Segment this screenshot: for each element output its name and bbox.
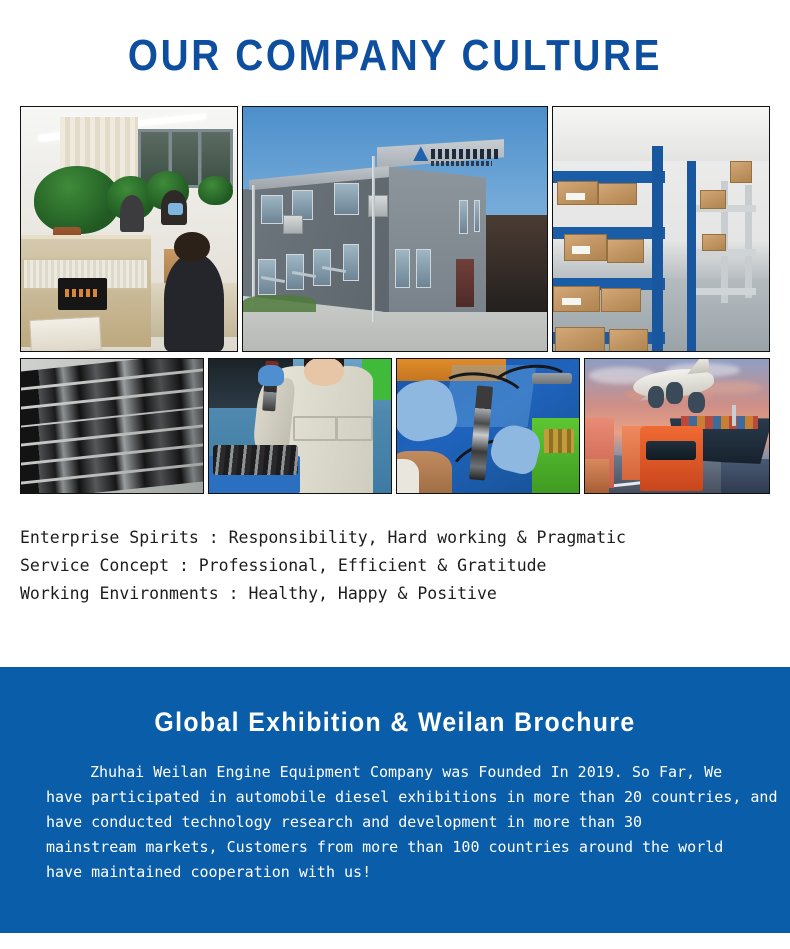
culture-line-2: Service Concept : Professional, Efficien… — [20, 552, 790, 580]
culture-statements: Enterprise Spirits : Responsibility, Har… — [0, 494, 790, 608]
photo-gallery — [0, 106, 790, 494]
office-photo[interactable] — [20, 106, 238, 352]
banner-paragraph-line-4: mainstream markets, Customers from more … — [46, 835, 744, 860]
factory-building-photo[interactable] — [242, 106, 548, 352]
injector-testing-scene — [397, 359, 579, 493]
injector-rows-photo[interactable] — [20, 358, 204, 494]
culture-line-3: Working Environments : Healthy, Happy & … — [20, 580, 790, 608]
banner-paragraph-line-1: Zhuhai Weilan Engine Equipment Company w… — [46, 760, 744, 785]
banner-paragraph: Zhuhai Weilan Engine Equipment Company w… — [0, 738, 790, 885]
gallery-row-1 — [20, 106, 770, 352]
banner-title: Global Exhibition & Weilan Brochure — [32, 667, 759, 738]
office-scene — [21, 107, 237, 351]
logistics-photo[interactable] — [584, 358, 770, 494]
technician-photo[interactable] — [208, 358, 392, 494]
warehouse-scene — [553, 107, 769, 351]
injector-testing-photo[interactable] — [396, 358, 580, 494]
brochure-banner: Global Exhibition & Weilan Brochure Zhuh… — [0, 667, 790, 933]
page-title: OUR COMPANY CULTURE — [47, 0, 742, 80]
warehouse-photo[interactable] — [552, 106, 770, 352]
banner-paragraph-line-3: have conducted technology research and d… — [46, 810, 744, 835]
culture-line-1: Enterprise Spirits : Responsibility, Har… — [20, 524, 790, 552]
factory-building-scene — [243, 107, 547, 351]
logistics-scene — [585, 359, 769, 493]
injector-rows-scene — [21, 359, 203, 493]
technician-scene — [209, 359, 391, 493]
banner-paragraph-line-5: have maintained cooperation with us! — [46, 860, 744, 885]
banner-paragraph-line-2: have participated in automobile diesel e… — [46, 785, 744, 810]
gallery-row-2 — [20, 358, 770, 494]
